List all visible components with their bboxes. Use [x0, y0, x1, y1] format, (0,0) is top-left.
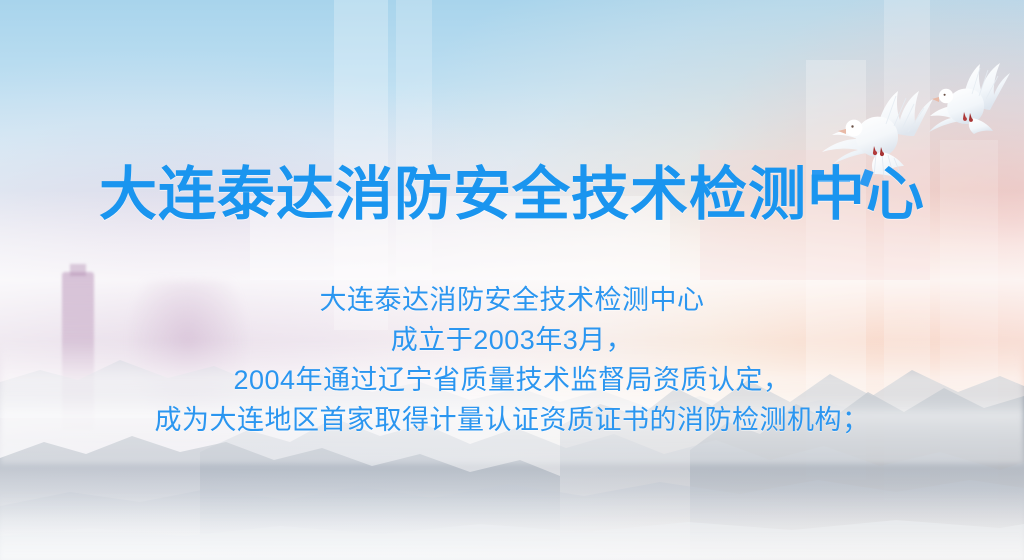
intro-line-3: 2004年通过辽宁省质量技术监督局资质认定， [0, 360, 1024, 400]
intro-line-4: 成为大连地区首家取得计量认证资质证书的消防检测机构； [0, 400, 1024, 440]
light-band-2 [396, 0, 432, 300]
mist-veil-lower [0, 490, 1024, 560]
intro-line-1: 大连泰达消防安全技术检测中心 [0, 280, 1024, 320]
promo-banner: 大连泰达消防安全技术检测中心 大连泰达消防安全技术检测中心 成立于2003年3月… [0, 0, 1024, 560]
intro-paragraph: 大连泰达消防安全技术检测中心 成立于2003年3月， 2004年通过辽宁省质量技… [0, 280, 1024, 440]
page-title: 大连泰达消防安全技术检测中心 [0, 166, 1024, 224]
flying-dove-small-icon [922, 56, 1018, 140]
intro-line-2: 成立于2003年3月， [0, 320, 1024, 360]
skyscraper-cap-icon [70, 264, 86, 276]
